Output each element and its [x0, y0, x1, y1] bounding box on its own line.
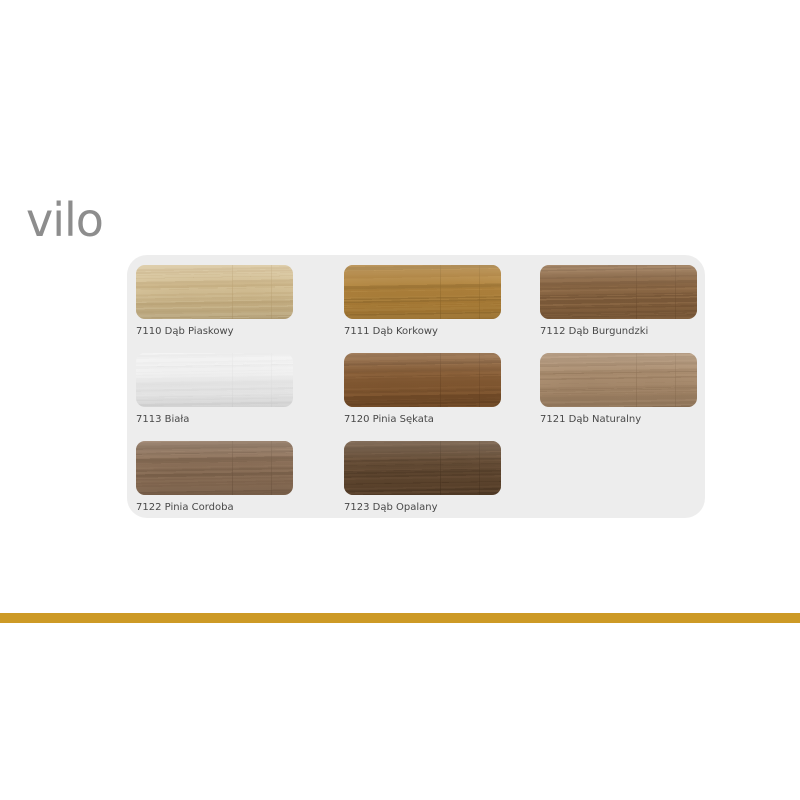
- swatch-cell-7112[interactable]: 7112 Dąb Burgundzki: [540, 265, 700, 353]
- gloss-overlay: [136, 265, 293, 319]
- swatch-cell-7111[interactable]: 7111 Dąb Korkowy: [344, 265, 540, 353]
- swatch-chip-7111[interactable]: [344, 265, 501, 319]
- swatch-label-7121: 7121 Dąb Naturalny: [540, 414, 700, 426]
- gold-accent-bar: [0, 613, 800, 623]
- swatch-label-7123: 7123 Dąb Opalany: [344, 502, 540, 514]
- gloss-overlay: [540, 265, 697, 319]
- swatch-chip-7122[interactable]: [136, 441, 293, 495]
- gloss-overlay: [136, 353, 293, 407]
- gloss-overlay: [136, 441, 293, 495]
- swatch-chip-7121[interactable]: [540, 353, 697, 407]
- swatch-cell-7120[interactable]: 7120 Pinia Sękata: [344, 353, 540, 441]
- gloss-overlay: [344, 441, 501, 495]
- gloss-overlay: [344, 265, 501, 319]
- swatch-label-7111: 7111 Dąb Korkowy: [344, 326, 540, 338]
- swatch-cell-7121[interactable]: 7121 Dąb Naturalny: [540, 353, 700, 441]
- swatch-label-7120: 7120 Pinia Sękata: [344, 414, 540, 426]
- swatch-label-7110: 7110 Dąb Piaskowy: [136, 326, 344, 338]
- swatch-cell-7113[interactable]: 7113 Biała: [136, 353, 344, 441]
- swatch-label-7112: 7112 Dąb Burgundzki: [540, 326, 700, 338]
- swatch-cell-7123[interactable]: 7123 Dąb Opalany: [344, 441, 540, 529]
- swatch-cell-7110[interactable]: 7110 Dąb Piaskowy: [136, 265, 344, 353]
- vilo-logo: vilo: [26, 198, 146, 248]
- gloss-overlay: [344, 353, 501, 407]
- gloss-overlay: [540, 353, 697, 407]
- swatch-cell-7122[interactable]: 7122 Pinia Cordoba: [136, 441, 344, 529]
- swatch-label-7113: 7113 Biała: [136, 414, 344, 426]
- swatch-chip-7123[interactable]: [344, 441, 501, 495]
- swatch-chip-7112[interactable]: [540, 265, 697, 319]
- swatch-chip-7120[interactable]: [344, 353, 501, 407]
- decor-swatch-panel: 7110 Dąb Piaskowy 7111 Dąb Korkowy 7112 …: [127, 255, 705, 518]
- swatch-chip-7113[interactable]: [136, 353, 293, 407]
- swatch-grid: 7110 Dąb Piaskowy 7111 Dąb Korkowy 7112 …: [136, 265, 696, 529]
- vilo-logo-text: vilo: [26, 198, 103, 247]
- swatch-chip-7110[interactable]: [136, 265, 293, 319]
- swatch-label-7122: 7122 Pinia Cordoba: [136, 502, 344, 514]
